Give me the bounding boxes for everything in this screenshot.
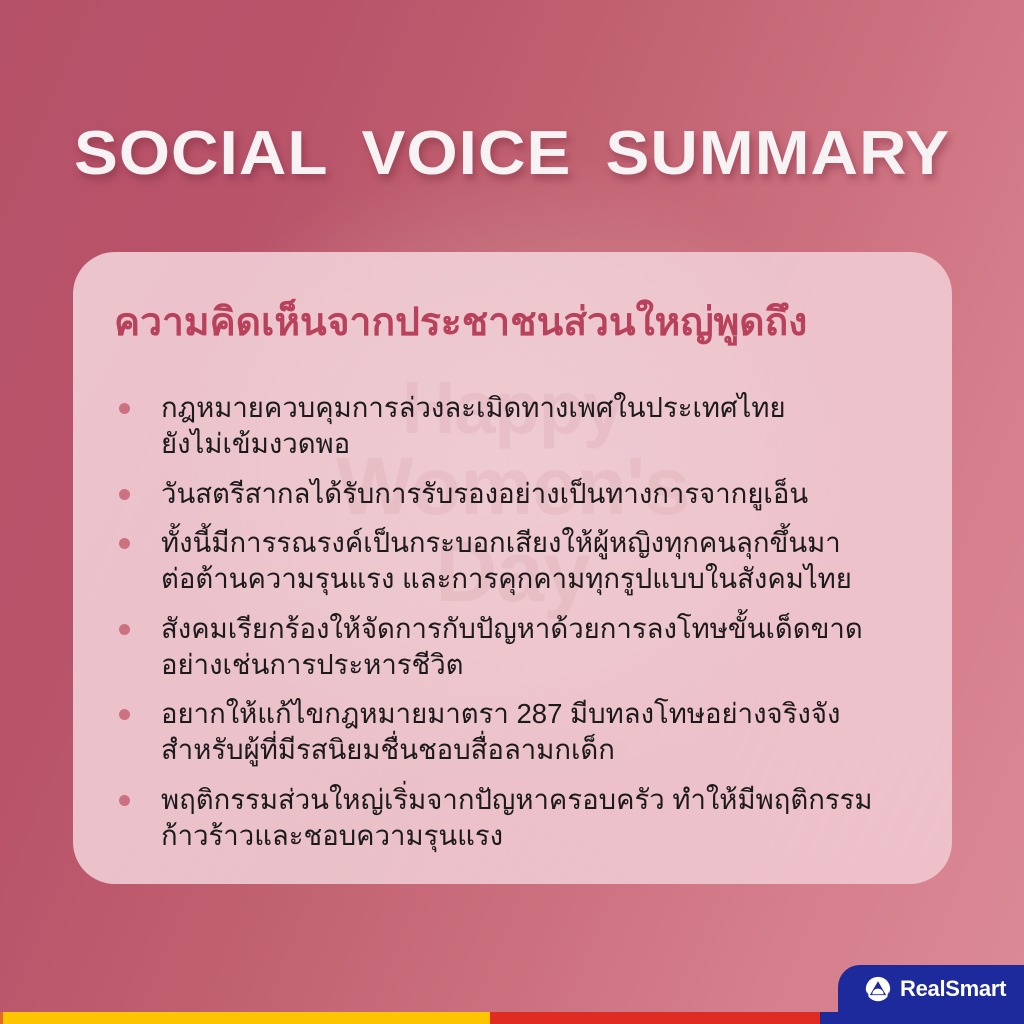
summary-card: Happy Women's Day ความคิดเห็นจากประชาชนส… [73,252,952,884]
list-item-text: กฎหมายควบคุมการล่วงละเมิดทางเพศในประเทศไ… [161,390,919,462]
bullet-dot-icon [119,538,130,549]
bullet-dot-icon [119,403,130,414]
social-voice-summary-poster: SOCIAL VOICE SUMMARY Happy Women's Day ค… [0,0,1024,1024]
list-item-text: ทั้งนี้มีการรณรงค์เป็นกระบอกเสียงให้ผู้ห… [161,525,919,597]
realsmart-brand-badge[interactable]: RealSmart [838,965,1024,1012]
stripe-edge-accent [0,1012,3,1024]
list-item-text: สังคมเรียกร้องให้จัดการกับปัญหาด้วยการลง… [161,611,919,683]
list-item-text: อยากให้แก้ไขกฎหมายมาตรา 287 มีบทลงโทษอย่… [161,696,919,768]
brand-name-label: RealSmart [900,976,1006,1002]
bullet-dot-icon [119,795,130,806]
stripe-segment-yellow [0,1012,490,1024]
card-subtitle: ความคิดเห็นจากประชาชนส่วนใหญ่พูดถึง [114,291,914,353]
list-item-text: วันสตรีสากลได้รับการรับรองอย่างเป็นทางกา… [161,476,919,512]
list-item: กฎหมายควบคุมการล่วงละเมิดทางเพศในประเทศไ… [109,390,919,462]
list-item: พฤติกรรมส่วนใหญ่เริ่มจากปัญหาครอบครัว ทำ… [109,782,919,854]
bullet-dot-icon [119,709,130,720]
bullet-dot-icon [119,489,130,500]
bullet-dot-icon [119,624,130,635]
list-item: สังคมเรียกร้องให้จัดการกับปัญหาด้วยการลง… [109,611,919,683]
list-item: ทั้งนี้มีการรณรงค์เป็นกระบอกเสียงให้ผู้ห… [109,525,919,597]
list-item-text: พฤติกรรมส่วนใหญ่เริ่มจากปัญหาครอบครัว ทำ… [161,782,919,854]
opinion-bullet-list: กฎหมายควบคุมการล่วงละเมิดทางเพศในประเทศไ… [109,390,919,853]
stripe-segment-blue [820,1012,1024,1024]
bottom-color-stripe [0,1012,1024,1024]
list-item: วันสตรีสากลได้รับการรับรองอย่างเป็นทางกา… [109,476,919,512]
stripe-segment-red [490,1012,820,1024]
realsmart-triangle-logo-icon [865,976,891,1002]
page-title: SOCIAL VOICE SUMMARY [0,118,1024,189]
list-item: อยากให้แก้ไขกฎหมายมาตรา 287 มีบทลงโทษอย่… [109,696,919,768]
